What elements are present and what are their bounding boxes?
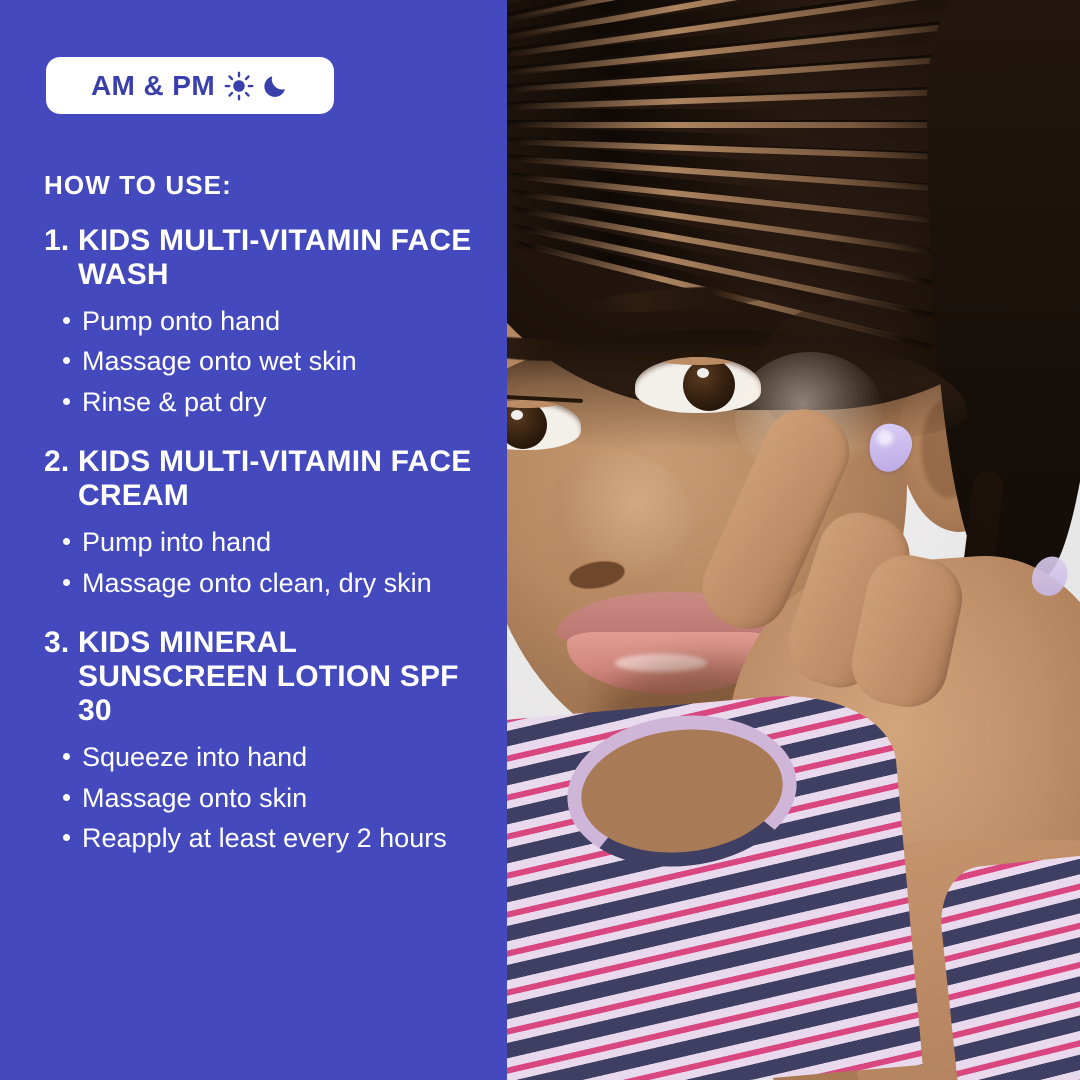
photo-stage (507, 0, 1080, 1080)
list-item: Massage onto clean, dry skin (63, 566, 483, 601)
step-3: 3. KIDS MINERAL SUNSCREEN LOTION SPF 30 … (0, 626, 507, 855)
step-3-bullets: Squeeze into hand Massage onto skin Reap… (0, 740, 507, 856)
steps-list: 1. KIDS MULTI-VITAMIN FACE WASH Pump ont… (0, 224, 507, 862)
list-item: Massage onto skin (63, 781, 483, 816)
promo-graphic: AM & PM (0, 0, 1080, 1080)
step-1-bullets: Pump onto hand Massage onto wet skin Rin… (0, 304, 507, 420)
am-pm-badge: AM & PM (46, 57, 334, 114)
striped-shirt-sleeve (936, 850, 1080, 1080)
list-item: Squeeze into hand (63, 740, 483, 775)
step-2-title: KIDS MULTI-VITAMIN FACE CREAM (78, 445, 477, 513)
step-3-heading: 3. KIDS MINERAL SUNSCREEN LOTION SPF 30 (0, 626, 507, 728)
step-1: 1. KIDS MULTI-VITAMIN FACE WASH Pump ont… (0, 224, 507, 419)
scalp-part-line (515, 122, 966, 128)
list-item: Rinse & pat dry (63, 385, 483, 420)
step-1-number: 1. (44, 224, 78, 292)
step-1-heading: 1. KIDS MULTI-VITAMIN FACE WASH (0, 224, 507, 292)
step-2-number: 2. (44, 445, 78, 513)
step-2: 2. KIDS MULTI-VITAMIN FACE CREAM Pump in… (0, 445, 507, 600)
list-item: Massage onto wet skin (63, 344, 483, 379)
sun-icon (224, 71, 254, 101)
step-3-title: KIDS MINERAL SUNSCREEN LOTION SPF 30 (78, 626, 477, 728)
instructions-panel: AM & PM (0, 0, 507, 1080)
step-2-heading: 2. KIDS MULTI-VITAMIN FACE CREAM (0, 445, 507, 513)
eye-glint (511, 410, 523, 420)
am-pm-badge-label: AM & PM (91, 72, 215, 100)
step-3-number: 3. (44, 626, 78, 728)
how-to-use-heading: HOW TO USE: (44, 170, 232, 201)
step-1-title: KIDS MULTI-VITAMIN FACE WASH (78, 224, 477, 292)
step-2-bullets: Pump into hand Massage onto clean, dry s… (0, 525, 507, 600)
eye-glint (697, 368, 709, 378)
cornrow-braid (507, 109, 994, 120)
moon-icon (262, 72, 289, 99)
list-item: Pump into hand (63, 525, 483, 560)
iris-right (683, 359, 735, 411)
list-item: Reapply at least every 2 hours (63, 821, 483, 856)
model-photo (507, 0, 1080, 1080)
badge-icon-group (224, 71, 289, 101)
list-item: Pump onto hand (63, 304, 483, 339)
fingernail-highlight (877, 430, 893, 446)
iris-left (507, 401, 547, 449)
